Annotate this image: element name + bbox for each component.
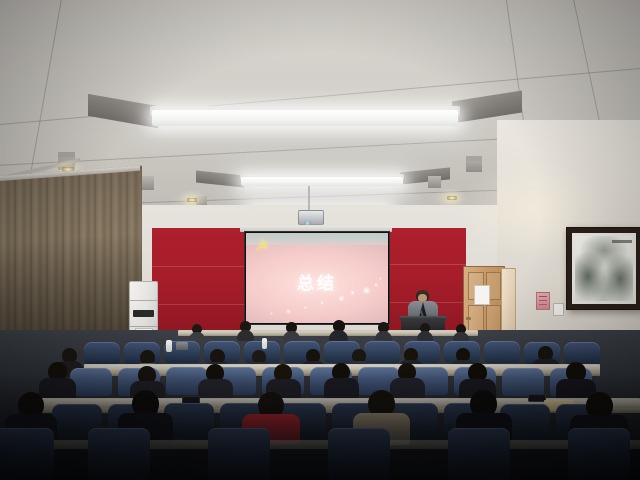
auditorium-seat [502,368,544,396]
auditorium-seat [568,428,630,480]
laptop [176,342,188,350]
fluorescent-fixture [152,110,458,126]
auditorium-seat [564,342,600,364]
water-bottle [262,338,267,349]
ceiling-light-trough [452,90,522,123]
slide-sparkle [362,286,371,295]
auditorium-seat [484,341,520,363]
light-switch-plate[interactable] [553,303,564,316]
auditorium-seat [364,341,400,363]
auditorium-seat [70,368,112,396]
projection-screen: ☭ 总结 [244,231,390,325]
slide-sparkle [270,312,273,315]
slide-sparkle [350,290,355,295]
auditorium-seat [84,342,120,364]
slide-sparkle [374,283,378,287]
fluorescent-fixture [241,177,403,186]
door-handle-icon[interactable] [466,317,471,320]
desk-row [178,330,478,336]
slide-sparkle [320,301,324,305]
presentation-slide: ☭ 总结 [246,233,388,323]
auditorium-seat [448,428,510,480]
door-notice-sign [474,285,490,305]
ceiling-beam-block [140,176,154,190]
downlight-icon [447,196,457,200]
hammer-and-sickle-icon: ☭ [255,239,273,254]
wall-notice-poster [536,292,550,310]
water-bottle [166,340,172,352]
projector-icon [298,210,324,225]
auditorium-seat [328,428,390,480]
ceiling-light-trough [88,94,158,128]
auditorium-seat [0,428,54,480]
slide-sparkle [379,277,382,280]
projector-lens-icon [304,221,311,225]
downlight-icon [187,198,197,202]
slide-sparkle [304,306,307,309]
slide-sparkle [286,309,291,314]
auditorium-seat [88,428,150,480]
lecture-hall-photo: ☭ 总结 [0,0,640,480]
ceiling-beam-block [428,176,441,188]
auditorium-seat [208,428,270,480]
audience-seating-area [0,330,640,480]
slide-sparkle [338,295,345,302]
projector-drop-pole [308,186,310,212]
framed-landscape-painting [566,227,640,310]
